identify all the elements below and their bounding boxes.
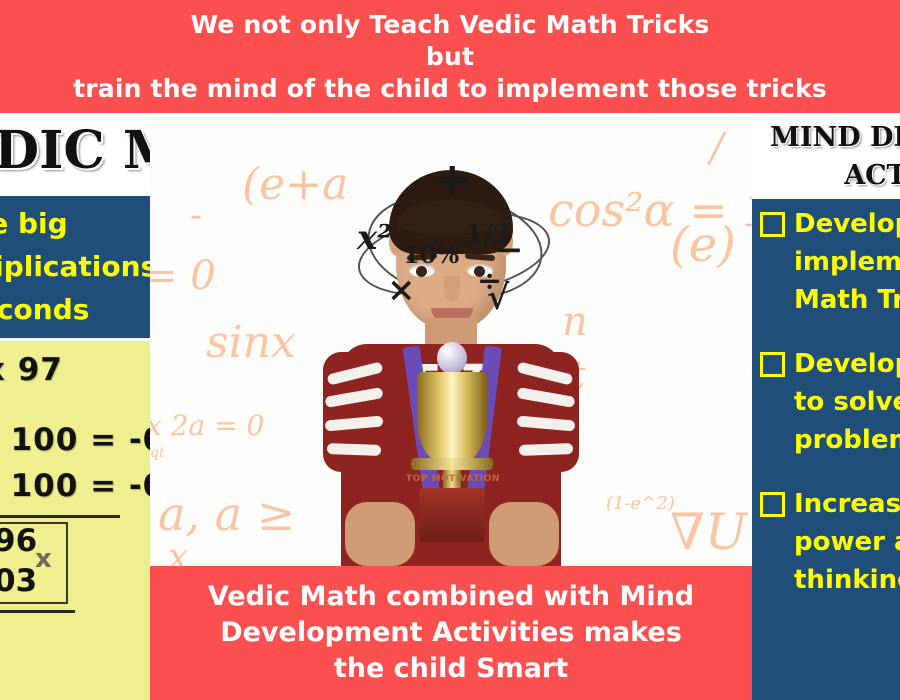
benefit-item-3: Increases memory power and logical think… [760,485,900,599]
calc-answer-operator: x [35,544,52,574]
left-panel: VEDIC MATH Solve big multiplications in … [0,113,150,700]
benefit-item-1-label: Develops ability to implement Vedic Math… [794,209,900,315]
boy-figure: + x² 10% 1/2 × ÷ − √ EAT [301,156,601,566]
caption-banner: Vedic Math combined with Mind Developmen… [150,566,752,700]
sleeve-stripe-r4 [519,443,573,456]
percent-symbol-icon: 10% [403,240,459,269]
student-photo: = 0 (e+a sinx cos²α = 1 n t (e) x 2a = 0… [150,113,752,566]
sqrt-symbol-icon: √ [487,278,509,318]
header-line-1: We not only Teach Vedic Math Tricks [190,9,709,41]
scribble-9: (e) [670,217,736,273]
scribble-14: ∇U [670,503,747,561]
trophy-cup [417,372,487,468]
checkbox-square-icon [760,492,785,517]
calc-answer-left: 96 [0,520,37,562]
left-blue-line-2: multiplications [0,245,150,288]
calc-problem: 99 x 97 [0,347,150,393]
scribble-12: a, a ≥ [158,487,295,541]
benefit-item-2: Develops the ability to solve complex pr… [760,345,900,459]
right-blue-box: Develops ability to implement Vedic Math… [752,199,900,700]
left-blue-line-1: Solve big [0,202,150,245]
left-blue-box: Solve big multiplications in seconds [0,196,150,338]
header-banner: We not only Teach Vedic Math Tricks but … [0,0,900,113]
caption-line-1: Vedic Math combined with Mind [208,579,694,615]
left-yellow-box: 99 x 97 99 - 100 = -01 97 - 100 = -03 96… [0,341,150,700]
scribble-0: = 0 [150,253,216,299]
benefits-list: Develops ability to implement Vedic Math… [760,205,900,625]
multiply-symbol-icon: × [387,270,416,310]
header-line-2: but [426,41,474,73]
calc-spacer [0,393,150,417]
slide-canvas: We not only Teach Vedic Math Tricks but … [0,0,900,700]
checkbox-square-icon [760,352,785,377]
right-panel-title-line1: MIND DEVELOPMENT [770,119,900,157]
scribble-extra-b: x [168,537,188,566]
plus-symbol-icon: + [433,152,472,206]
x-squared-symbol-icon: x² [357,218,392,258]
trophy-base [419,488,485,542]
right-panel: MIND DEVELOPMENT ACTIVITIES Develops abi… [752,113,900,700]
trophy-plate [411,458,493,470]
scribble-13: (1-e^2) [606,493,675,514]
scribble-3: sinx [206,317,296,368]
sleeve-stripe-l4 [327,443,381,456]
benefit-item-1: Develops ability to implement Vedic Math… [760,205,900,319]
benefit-item-2-label: Develops the ability to solve complex pr… [794,349,900,455]
calc-step-1: 99 - 100 = -01 [0,417,150,463]
nose [444,276,460,302]
calc-divider-bottom [0,610,75,613]
caption-line-2: Development Activities makes [220,615,682,651]
scribble-11: qt [150,445,165,461]
calc-answer-group: 96 03 x [0,518,150,606]
trophy-label: TOP MOTIVATION [401,474,505,484]
vedic-calculation: 99 x 97 99 - 100 = -01 97 - 100 = -03 96… [0,347,150,613]
right-panel-title-line2: ACTIVITIES [770,157,900,195]
scribble-extra-c: ∕ [710,125,723,171]
minus-symbol-icon: − [495,230,524,270]
trophy-crystal-topper [437,342,467,374]
benefit-item-3-label: Increases memory power and logical think… [794,489,900,595]
calc-answer-right: 03 [0,560,37,602]
calc-step-2: 97 - 100 = -03 [0,463,150,509]
left-blue-line-3: in seconds [0,288,150,331]
left-panel-title: VEDIC MATH [0,121,144,181]
header-line-3: train the mind of the child to implement… [73,73,827,105]
arm-right [489,502,559,566]
arm-left [345,502,415,566]
checkbox-square-icon [760,212,785,237]
caption-line-3: the child Smart [334,651,568,687]
scribble-extra-a: ‐ [190,195,202,236]
scribble-10: x 2a = 0 [150,409,264,442]
